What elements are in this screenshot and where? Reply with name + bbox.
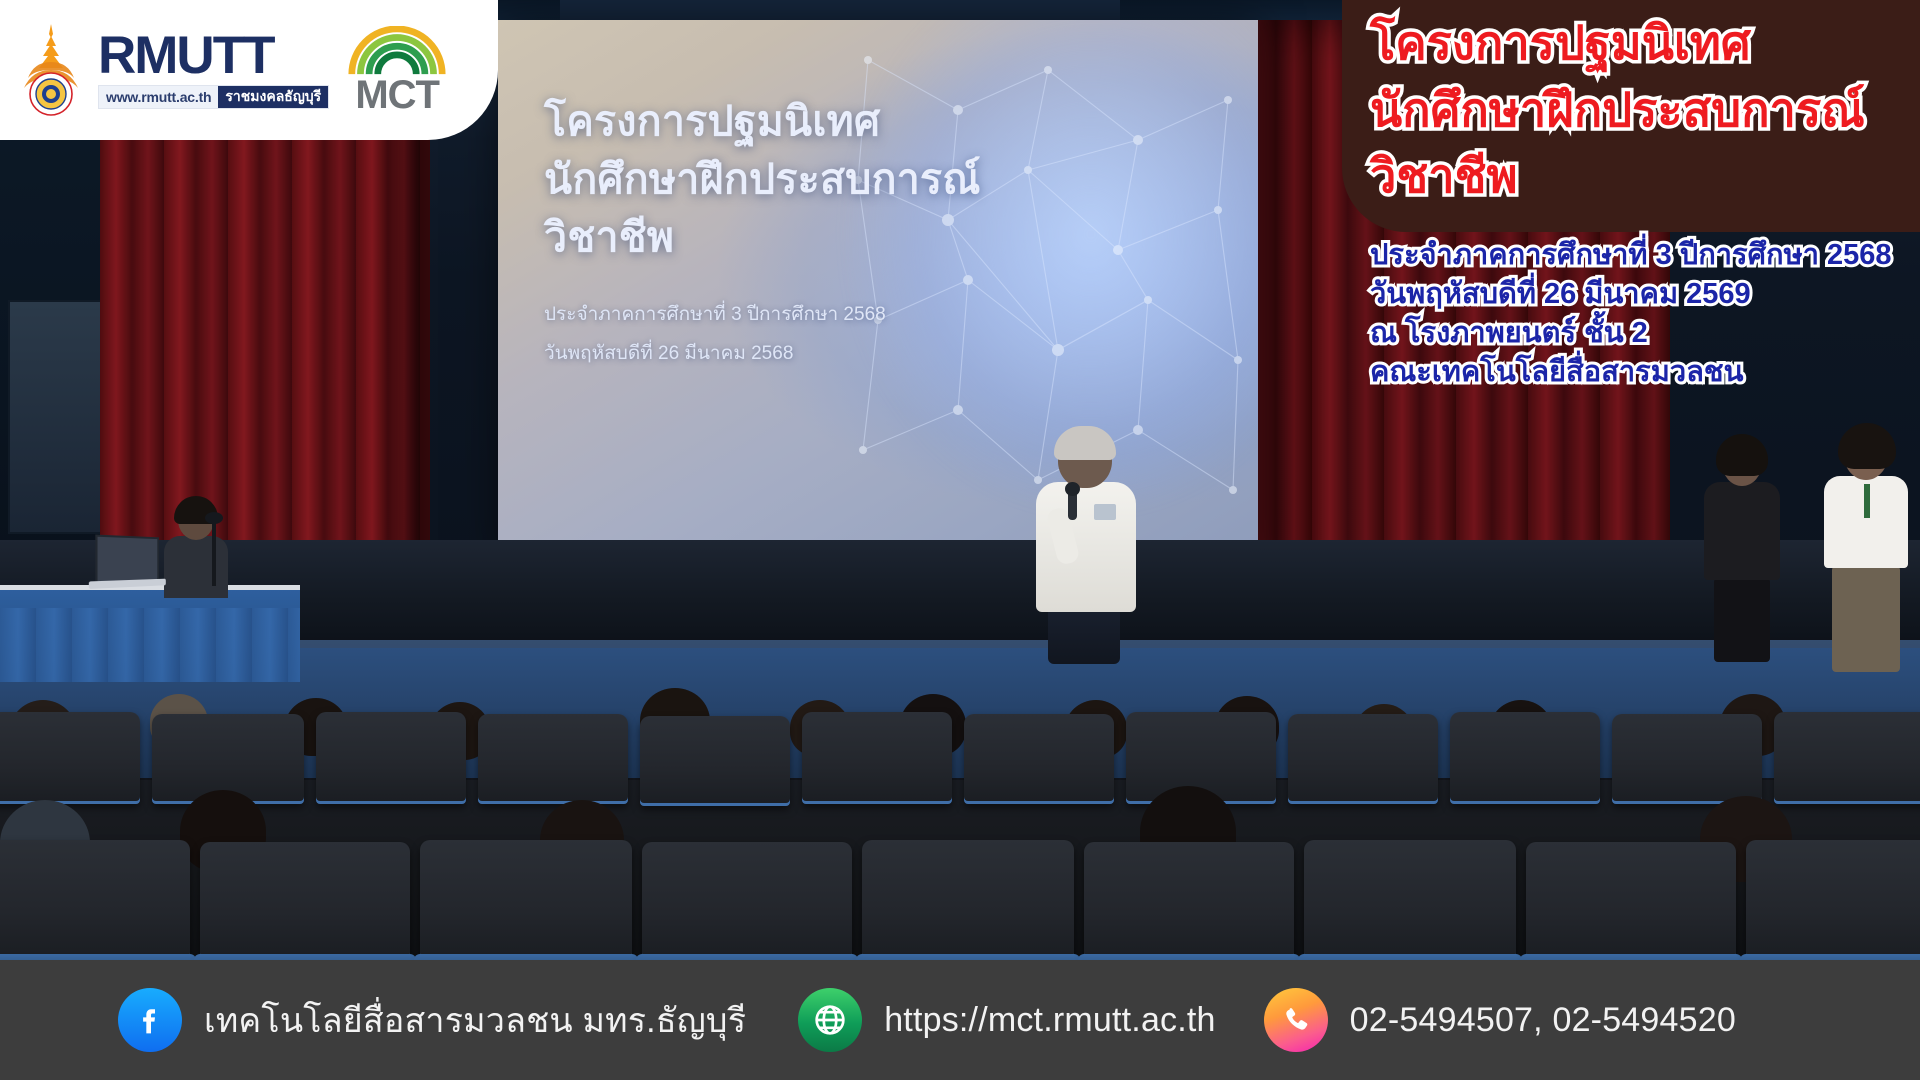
auditorium-seat [1774,712,1920,804]
footer-website[interactable]: https://mct.rmutt.ac.th [798,988,1215,1052]
slide-title-line-2: นักศึกษาฝึกประสบการณ์ [544,150,1244,208]
logo-badge: RMUTT www.rmutt.ac.th ราชมงคลธัญบุรี MCT [0,0,498,140]
rmutt-royal-emblem-icon [18,22,84,118]
auditorium-seat [1084,842,1294,960]
standing-a-hair [1716,434,1768,476]
rmutt-wordmark: RMUTT www.rmutt.ac.th ราชมงคลธัญบุรี [98,31,329,108]
auditorium-seat [0,712,140,804]
event-detail-date: วันพฤหัสบดีที่ 26 มีนาคม 2569 [1370,275,1906,314]
auditorium-seat [420,840,632,960]
table-cloth [0,608,300,682]
presenter-hair [1054,426,1116,460]
auditorium-seat [640,716,790,806]
auditorium-seat [802,712,952,804]
auditorium-seat [0,840,190,960]
footer-facebook[interactable]: เทคโนโลยีสื่อสารมวลชน มทร.ธัญบุรี [118,988,746,1052]
rmutt-letters: RMUTT [98,31,329,81]
event-detail-semester: ประจำภาคการศึกษาที่ 3 ปีการศึกษา 2568 [1370,236,1906,275]
lanyard [1864,484,1870,518]
standing-b-legs [1832,566,1900,672]
mct-logo: MCT [343,26,451,115]
standing-b-hair [1838,423,1896,469]
microphone [1068,490,1077,520]
phone-icon[interactable] [1264,988,1328,1052]
facebook-icon[interactable] [118,988,182,1052]
head-table [0,585,300,682]
globe-icon[interactable] [798,988,862,1052]
presenter-badge [1094,504,1116,520]
auditorium-seat [642,842,852,960]
slide-subtitle: ประจำภาคการศึกษาที่ 3 ปีการศึกษา 2568 วั… [544,296,1164,374]
event-title-line-3: วิชาชีพ [1370,143,1906,210]
rmutt-thai-label: ราชมงคลธัญบุรี [218,86,328,108]
slide-sub-line-1: ประจำภาคการศึกษาที่ 3 ปีการศึกษา 2568 [544,296,1164,335]
footer-phone[interactable]: 02-5494507, 02-5494520 [1264,988,1736,1052]
facebook-page-name: เทคโนโลยีสื่อสารมวลชน มทร.ธัญบุรี [204,993,746,1047]
event-details: ประจำภาคการศึกษาที่ 3 ปีการศึกษา 2568 วั… [1342,236,1920,391]
auditorium-seat [316,712,466,804]
event-title-line-1: โครงการปฐมนิเทศ [1370,10,1906,77]
event-detail-faculty: คณะเทคโนโลยีสื่อสารมวลชน [1370,353,1906,392]
auditorium-seat [1288,714,1438,804]
standing-person-left [1700,440,1782,660]
auditorium-seat [1450,712,1600,804]
laptop [95,535,159,586]
auditorium-seat [1612,714,1762,804]
mct-arc-icon [343,26,451,76]
rmutt-underbar: www.rmutt.ac.th ราชมงคลธัญบุรี [98,85,329,109]
auditorium-seat [862,840,1074,960]
auditorium-seat [200,842,410,960]
contact-footer: เทคโนโลยีสื่อสารมวลชน มทร.ธัญบุรี https:… [0,960,1920,1080]
auditorium-seat [478,714,628,804]
standing-person-right [1820,430,1912,670]
seated-body [164,536,228,598]
standing-a-legs [1714,578,1770,662]
slide-title: โครงการปฐมนิเทศ นักศึกษาฝึกประสบการณ์ วิ… [544,92,1244,267]
event-title-line-2: นักศึกษาฝึกประสบการณ์ [1370,77,1906,144]
microphone-stand [212,520,216,586]
mct-letters: MCT [343,75,451,115]
auditorium-seat [964,714,1114,804]
slide-title-line-1: โครงการปฐมนิเทศ [544,92,1244,150]
auditorium-seat [1526,842,1736,960]
projection-screen: โครงการปฐมนิเทศ นักศึกษาฝึกประสบการณ์ วิ… [498,20,1258,560]
event-detail-venue: ณ โรงภาพยนตร์ ชั้น 2 [1370,314,1906,353]
slide-sub-line-2: วันพฤหัสบดีที่ 26 มีนาคม 2568 [544,335,1164,374]
presenter [1030,430,1140,660]
presenter-body [1036,482,1136,612]
auditorium-seat [1746,840,1920,960]
event-poster: โครงการปฐมนิเทศ นักศึกษาฝึกประสบการณ์ วิ… [0,0,1920,1080]
slide-title-line-3: วิชาชีพ [544,208,1244,266]
rmutt-url-label: www.rmutt.ac.th [99,86,218,108]
website-url: https://mct.rmutt.ac.th [884,1001,1215,1040]
auditorium-seat [1304,840,1516,960]
wall-panel [8,300,108,534]
phone-numbers: 02-5494507, 02-5494520 [1350,1001,1736,1040]
event-title: โครงการปฐมนิเทศ นักศึกษาฝึกประสบการณ์ วิ… [1342,10,1920,210]
standing-a-body [1704,482,1780,580]
